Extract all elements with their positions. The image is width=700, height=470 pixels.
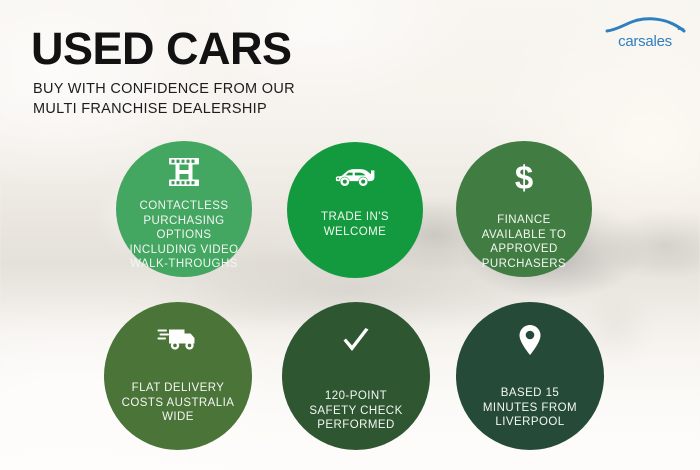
feature-label: BASED 15 MINUTES FROM LIVERPOOL [483,386,577,430]
feature-label: FLAT DELIVERY COSTS AUSTRALIA WIDE [122,381,235,425]
page-title: USED CARS [31,24,292,74]
feature-label: 120-POINT SAFETY CHECK PERFORMED [309,389,402,433]
feature-bubble-safety-check[interactable]: 120-POINT SAFETY CHECK PERFORMED [282,302,430,450]
carsales-logo[interactable]: carsales [602,16,688,50]
map-pin-icon [518,324,542,356]
page-subtitle: BUY WITH CONFIDENCE FROM OUR MULTI FRANC… [33,80,295,119]
svg-text:$: $ [515,160,533,194]
delivery-truck-icon [157,325,199,351]
dollar-sign-icon: $ [511,160,537,194]
feature-label: CONTACTLESS PURCHASING OPTIONS INCLUDING… [130,199,239,272]
feature-bubble-finance[interactable]: $ FINANCE AVAILABLE TO APPROVED PURCHASE… [456,141,592,277]
feature-bubble-location[interactable]: BASED 15 MINUTES FROM LIVERPOOL [456,302,604,450]
checkmark-icon [341,327,371,357]
feature-label: TRADE IN'S WELCOME [321,210,389,239]
promotional-banner: USED CARS BUY WITH CONFIDENCE FROM OUR M… [0,0,700,470]
feature-bubble-trade-ins[interactable]: TRADE IN'S WELCOME [287,142,423,278]
svg-text:carsales: carsales [618,33,672,50]
sports-car-icon [333,164,377,188]
feature-label: FINANCE AVAILABLE TO APPROVED PURCHASERS [482,213,566,271]
film-strip-icon [167,157,201,187]
feature-bubble-contactless-purchasing[interactable]: CONTACTLESS PURCHASING OPTIONS INCLUDING… [116,141,252,277]
car-silhouette-icon: carsales [602,16,688,50]
feature-bubble-flat-delivery[interactable]: FLAT DELIVERY COSTS AUSTRALIA WIDE [104,302,252,450]
